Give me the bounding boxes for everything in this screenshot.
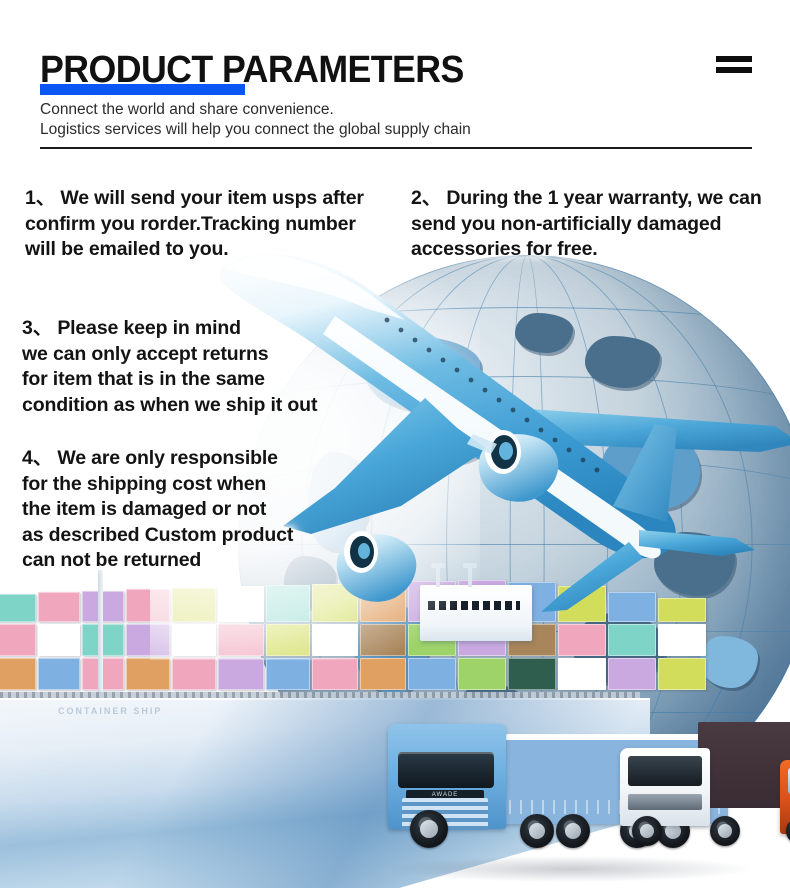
parameter-line: accessories for free.	[411, 237, 790, 263]
airplane-belly-stripe	[323, 316, 661, 558]
airplane-pylon	[467, 434, 497, 454]
container	[266, 624, 310, 656]
container	[82, 624, 124, 656]
wheel	[620, 814, 654, 848]
hamburger-bar	[716, 67, 752, 73]
globe-landmass	[700, 636, 758, 688]
globe-landmass	[654, 532, 735, 596]
wheel	[710, 816, 740, 846]
container	[658, 598, 706, 622]
page-subtitle-line-2: Logistics services will help you connect…	[40, 120, 471, 140]
wheel	[520, 814, 554, 848]
container	[608, 624, 656, 656]
airplane-nose-highlight	[225, 256, 405, 320]
wheel	[556, 814, 590, 848]
container	[38, 592, 80, 622]
parameter-item-3: 3、 Please keep in mind we can only accep…	[22, 316, 372, 418]
hamburger-bar	[716, 56, 752, 62]
parameter-line: 3、 Please keep in mind	[22, 316, 372, 342]
globe-landmass	[365, 336, 481, 411]
ship-mast	[463, 563, 477, 568]
hamburger-icon[interactable]	[716, 56, 752, 78]
bottom-logistics-scene: CONTAINER SHIP AWADE	[0, 580, 790, 895]
container	[218, 624, 264, 656]
container	[312, 624, 358, 656]
page-subtitle: Connect the world and share convenience.…	[40, 100, 471, 140]
parameter-line: condition as when we ship it out	[22, 393, 372, 419]
parameter-line: can not be returned	[22, 548, 372, 574]
truck-group: AWADE	[380, 698, 790, 888]
page-subtitle-line-1: Connect the world and share convenience.	[40, 100, 471, 120]
container	[458, 580, 506, 622]
globe-landmass	[354, 602, 429, 694]
parameter-item-1: 1、 We will send your item usps after con…	[25, 186, 417, 263]
container	[218, 586, 264, 622]
airplane-engine-inner	[479, 430, 559, 502]
container	[0, 658, 36, 690]
globe-landmass	[515, 313, 573, 353]
parameter-line: the item is damaged or not	[22, 497, 372, 523]
semi-badge: AWADE	[406, 790, 484, 801]
box-truck-body	[698, 722, 790, 808]
product-parameters-page: CONTAINER SHIP AWADE	[0, 0, 790, 895]
header-divider	[40, 147, 752, 149]
pickup-truck-graphic	[780, 750, 790, 860]
parameter-line: 1、 We will send your item usps after	[25, 186, 417, 212]
globe-landmass	[602, 428, 700, 509]
airplane-window-line	[385, 318, 600, 473]
parameter-line: as described Custom product	[22, 523, 372, 549]
container	[508, 582, 556, 622]
airplane-tail-fin	[613, 424, 677, 522]
container	[126, 589, 170, 622]
container	[408, 624, 456, 656]
parameter-item-4: 4、 We are only responsible for the shipp…	[22, 446, 372, 574]
parameter-item-2: 2、 During the 1 year warranty, we can se…	[411, 186, 790, 263]
semi-grille	[402, 798, 488, 830]
wheel	[410, 810, 448, 848]
container	[408, 658, 456, 690]
container	[458, 624, 506, 656]
container	[608, 592, 656, 622]
container	[126, 624, 170, 656]
semi-cab: AWADE	[388, 724, 506, 829]
container	[360, 658, 406, 690]
wheel	[656, 814, 690, 848]
airplane-stabilizer-left	[541, 542, 643, 612]
container	[218, 658, 264, 690]
semi-trailer	[498, 734, 728, 824]
ship-mast	[436, 567, 440, 587]
globe-longitude-line	[446, 255, 608, 833]
container	[82, 658, 124, 690]
ship-hull-name: CONTAINER SHIP	[58, 706, 162, 716]
parameter-line: we can only accept returns	[22, 342, 372, 368]
ship-mast	[431, 563, 445, 568]
ship-crane-mast	[98, 570, 103, 700]
parameter-line: confirm you rorder.Tracking number	[25, 212, 417, 238]
wheel	[786, 818, 790, 844]
ship-deck-rail	[0, 692, 640, 704]
page-title-wrap: PRODUCT PARAMETERS	[40, 50, 491, 90]
container	[172, 658, 216, 690]
page-header: PRODUCT PARAMETERS Connect the world and…	[0, 0, 790, 160]
container	[508, 658, 556, 690]
ship-hull	[0, 698, 650, 888]
container	[0, 594, 36, 622]
box-truck-cab	[620, 748, 710, 826]
container	[360, 582, 406, 622]
container	[658, 624, 706, 656]
parameter-line: for item that is in the same	[22, 367, 372, 393]
ship-bridge	[420, 585, 532, 641]
container	[408, 581, 456, 622]
container	[608, 658, 656, 690]
airplane-graphic	[215, 238, 790, 638]
shipping-containers-graphic	[0, 588, 700, 698]
wheel	[632, 816, 662, 846]
globe-landmass	[458, 683, 527, 741]
globe-landmass	[411, 405, 492, 463]
container	[658, 658, 706, 690]
container	[508, 624, 556, 656]
globe-latitude-line	[238, 712, 790, 713]
globe-latitude-line	[238, 631, 790, 632]
container	[38, 624, 80, 656]
parameter-line: will be emailed to you.	[25, 237, 417, 263]
container	[0, 624, 36, 656]
globe-landmass	[573, 613, 665, 682]
semi-windshield	[398, 752, 494, 788]
container	[82, 591, 124, 622]
container	[558, 586, 606, 622]
container	[312, 658, 358, 690]
parameter-line: for the shipping cost when	[22, 472, 372, 498]
ship-hull-shading	[0, 698, 650, 888]
box-truck-graphic	[698, 722, 790, 862]
container	[458, 658, 506, 690]
ship-mast	[468, 567, 472, 587]
container	[266, 658, 310, 690]
parameter-line: send you non-artificially damaged	[411, 212, 790, 238]
container	[558, 658, 606, 690]
box-truck-grille	[628, 794, 702, 810]
airplane-right-wing	[515, 408, 790, 452]
truck-ground-shadow	[390, 856, 750, 882]
globe-longitude-line	[510, 255, 545, 833]
page-title: PRODUCT PARAMETERS	[40, 50, 464, 90]
container	[38, 658, 80, 690]
container	[172, 588, 216, 622]
container	[558, 624, 606, 656]
container	[172, 624, 216, 656]
parameter-line: 4、 We are only responsible	[22, 446, 372, 472]
globe-longitude-line	[371, 255, 683, 833]
pickup-body	[780, 760, 790, 834]
container	[126, 658, 170, 690]
globe-latitude-line	[238, 775, 790, 776]
globe-landmass	[585, 336, 660, 388]
airplane-stabilizer-right	[639, 530, 755, 556]
parameter-line: 2、 During the 1 year warranty, we can	[411, 186, 790, 212]
container	[312, 584, 358, 622]
ship-bridge-windows	[428, 601, 520, 610]
container	[360, 624, 406, 656]
box-truck-windshield	[628, 756, 702, 786]
container	[266, 585, 310, 622]
